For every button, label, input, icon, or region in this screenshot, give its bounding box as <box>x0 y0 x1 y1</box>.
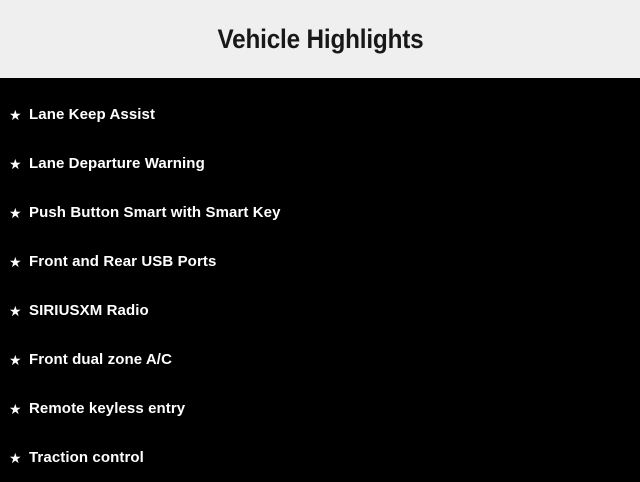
list-item-label: Remote keyless entry <box>29 401 185 416</box>
star-bullet-icon: ★ <box>9 206 29 220</box>
list-item-label: Front dual zone A/C <box>29 352 172 367</box>
highlights-section: ★ Lane Keep Assist ★ Lane Departure Warn… <box>0 78 640 482</box>
highlights-list: ★ Lane Keep Assist ★ Lane Departure Warn… <box>0 78 640 482</box>
list-item: ★ Front dual zone A/C <box>0 335 640 384</box>
list-item-label: Traction control <box>29 450 144 465</box>
star-bullet-icon: ★ <box>9 108 29 122</box>
panel-header: Vehicle Highlights <box>0 0 640 78</box>
list-item: ★ Traction control <box>0 433 640 482</box>
list-item: ★ Lane Departure Warning <box>0 139 640 188</box>
list-item: ★ Remote keyless entry <box>0 384 640 433</box>
list-item-label: SIRIUSXM Radio <box>29 303 149 318</box>
star-bullet-icon: ★ <box>9 304 29 318</box>
star-bullet-icon: ★ <box>9 353 29 367</box>
list-item: ★ SIRIUSXM Radio <box>0 286 640 335</box>
star-bullet-icon: ★ <box>9 451 29 465</box>
list-item: ★ Push Button Smart with Smart Key <box>0 188 640 237</box>
page-title: Vehicle Highlights <box>217 26 423 53</box>
list-item: ★ Lane Keep Assist <box>0 90 640 139</box>
vehicle-highlights-panel: Vehicle Highlights ★ Lane Keep Assist ★ … <box>0 0 640 480</box>
list-item-label: Lane Keep Assist <box>29 107 155 122</box>
list-item-label: Front and Rear USB Ports <box>29 254 216 269</box>
star-bullet-icon: ★ <box>9 255 29 269</box>
star-bullet-icon: ★ <box>9 402 29 416</box>
list-item: ★ Front and Rear USB Ports <box>0 237 640 286</box>
list-item-label: Lane Departure Warning <box>29 156 205 171</box>
list-item-label: Push Button Smart with Smart Key <box>29 205 281 220</box>
star-bullet-icon: ★ <box>9 157 29 171</box>
